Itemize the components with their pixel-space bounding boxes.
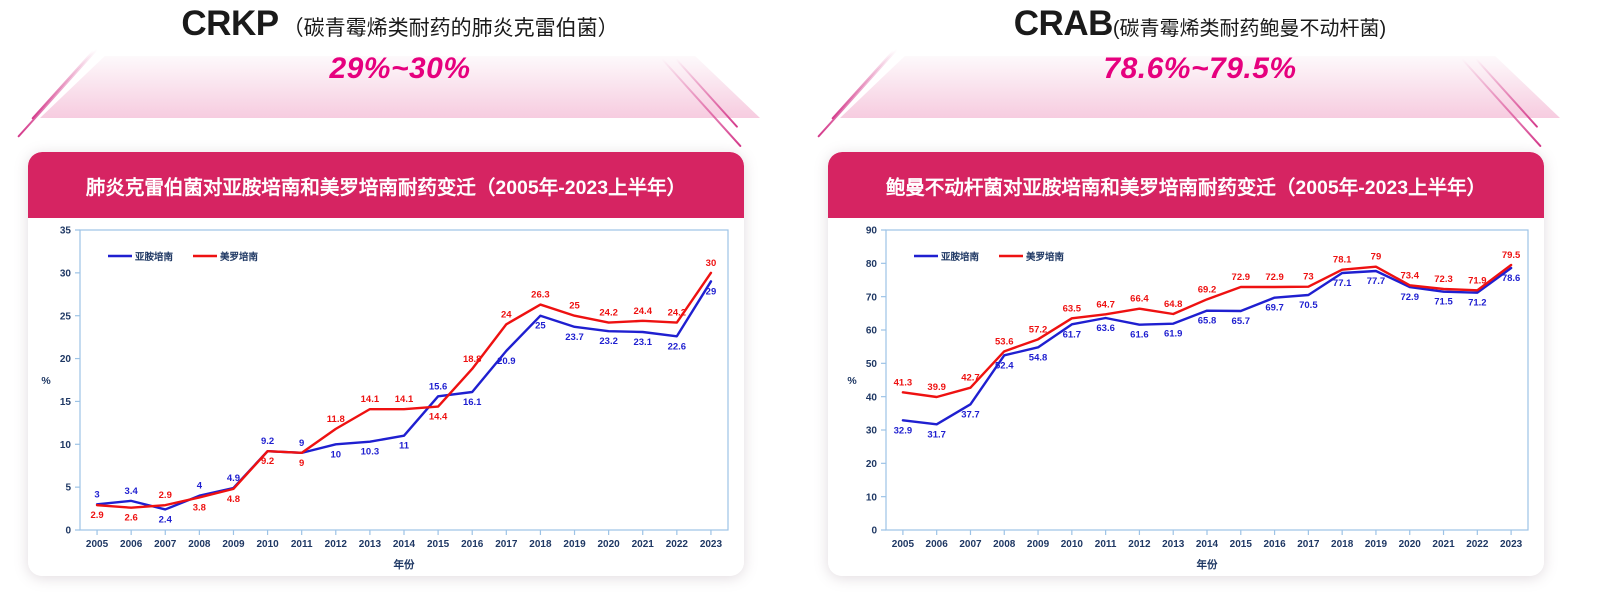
chart-card-crkp: 肺炎克雷伯菌对亚胺培南和美罗培南耐药变迁（2005年-2023上半年） 0510… xyxy=(28,152,744,576)
x-axis-title: 年份 xyxy=(1197,558,1219,571)
data-point-label: 24.2 xyxy=(599,308,618,319)
y-axis-tick-label: 5 xyxy=(65,483,71,494)
y-axis-tick-label: 10 xyxy=(60,440,72,451)
data-point-label: 10.3 xyxy=(361,447,380,458)
x-axis-tick-label: 2007 xyxy=(959,539,982,550)
data-point-label: 26.3 xyxy=(531,290,550,301)
y-axis-tick-label: 70 xyxy=(866,292,878,303)
data-point-label: 78.1 xyxy=(1333,255,1352,266)
x-axis-tick-label: 2022 xyxy=(666,539,689,550)
x-axis-tick-label: 2005 xyxy=(892,539,915,550)
x-axis-tick-label: 2014 xyxy=(1196,539,1219,550)
data-point-label: 69.2 xyxy=(1198,284,1217,295)
data-point-label: 31.7 xyxy=(927,429,946,440)
card-header-crkp: 肺炎克雷伯菌对亚胺培南和美罗培南耐药变迁（2005年-2023上半年） xyxy=(28,152,744,218)
data-point-label: 77.7 xyxy=(1367,276,1386,287)
x-axis-tick-label: 2008 xyxy=(188,539,211,550)
banner-abbreviation: CRAB xyxy=(1014,4,1113,43)
data-point-label: 3.8 xyxy=(193,502,206,513)
x-axis-tick-label: 2007 xyxy=(154,539,177,550)
data-point-label: 66.4 xyxy=(1130,294,1149,305)
x-axis-tick-label: 2018 xyxy=(1331,539,1354,550)
x-axis-tick-label: 2009 xyxy=(222,539,245,550)
x-axis-tick-label: 2019 xyxy=(1365,539,1388,550)
data-point-label: 16.1 xyxy=(463,397,482,408)
y-axis-tick-label: 0 xyxy=(65,526,71,537)
x-axis-tick-label: 2009 xyxy=(1027,539,1050,550)
x-axis-tick-label: 2015 xyxy=(427,539,450,550)
x-axis-tick-label: 2010 xyxy=(1061,539,1084,550)
data-point-label: 22.6 xyxy=(668,341,687,352)
data-point-label: 42.7 xyxy=(961,373,980,384)
banner-range-value: 29%~30% xyxy=(0,52,800,86)
data-point-label: 4.8 xyxy=(227,494,240,505)
data-point-label: 71.2 xyxy=(1468,298,1487,309)
data-point-label: 4 xyxy=(197,481,203,492)
data-point-label: 57.2 xyxy=(1029,324,1048,335)
data-point-label: 71.5 xyxy=(1434,297,1453,308)
y-axis-tick-label: 60 xyxy=(866,326,878,337)
y-axis-tick-label: 25 xyxy=(60,311,72,322)
data-point-label: 30 xyxy=(706,258,717,269)
data-point-label: 18.8 xyxy=(463,354,482,365)
y-axis-title: % xyxy=(847,375,857,387)
x-axis-tick-label: 2021 xyxy=(632,539,655,550)
data-point-label: 32.9 xyxy=(894,425,913,436)
data-point-label: 2.6 xyxy=(125,513,138,524)
data-point-label: 64.8 xyxy=(1164,299,1183,310)
banner-full-name: (碳青霉烯类耐药鲍曼不动杆菌) xyxy=(1113,18,1386,40)
data-point-label: 77.1 xyxy=(1333,278,1352,289)
data-point-label: 41.3 xyxy=(894,377,913,388)
data-point-label: 23.7 xyxy=(565,332,584,343)
x-axis-tick-label: 2016 xyxy=(1263,539,1286,550)
data-point-label: 9 xyxy=(299,458,304,469)
data-point-label: 9.2 xyxy=(261,436,274,447)
banner-range-value: 78.6%~79.5% xyxy=(800,52,1600,86)
data-point-label: 65.8 xyxy=(1198,316,1217,327)
x-axis-tick-label: 2016 xyxy=(461,539,484,550)
data-point-label: 10 xyxy=(331,449,342,460)
x-axis-tick-label: 2011 xyxy=(1095,539,1117,550)
data-point-label: 73.4 xyxy=(1400,270,1419,281)
x-axis-tick-label: 2015 xyxy=(1230,539,1253,550)
y-axis-tick-label: 35 xyxy=(60,226,72,237)
data-point-label: 53.6 xyxy=(995,336,1014,347)
card-body-crkp: 05101520253035%2005200620072008200920102… xyxy=(28,218,744,576)
data-point-label: 25 xyxy=(569,301,580,312)
data-point-label: 2.9 xyxy=(90,510,103,521)
data-point-label: 20.9 xyxy=(497,356,516,367)
data-point-label: 39.9 xyxy=(927,382,946,393)
y-axis-title: % xyxy=(41,375,51,387)
data-point-label: 63.6 xyxy=(1096,323,1115,334)
x-axis-tick-label: 2012 xyxy=(1128,539,1151,550)
panel-crab: CRAB(碳青霉烯类耐药鲍曼不动杆菌) 78.6%~79.5% 鲍曼不动杆菌对亚… xyxy=(800,0,1600,604)
data-point-label: 2.9 xyxy=(159,490,172,501)
y-axis-tick-label: 15 xyxy=(60,397,72,408)
y-axis-tick-label: 30 xyxy=(866,426,878,437)
banner-crab: CRAB(碳青霉烯类耐药鲍曼不动杆菌) 78.6%~79.5% xyxy=(800,0,1600,140)
data-point-label: 78.6 xyxy=(1502,273,1521,284)
x-axis-tick-label: 2010 xyxy=(256,539,279,550)
x-axis-tick-label: 2013 xyxy=(1162,539,1185,550)
data-point-label: 14.4 xyxy=(429,412,448,423)
x-axis-tick-label: 2013 xyxy=(359,539,382,550)
data-point-label: 23.2 xyxy=(599,336,618,347)
banner-abbreviation: CRKP xyxy=(181,4,278,43)
slide-root: CRKP（碳青霉烯类耐药的肺炎克雷伯菌） 29%~30% 肺炎克雷伯菌对亚胺培南… xyxy=(0,0,1600,604)
data-point-label: 72.9 xyxy=(1265,272,1284,283)
data-point-label: 9 xyxy=(299,438,304,449)
y-axis-tick-label: 0 xyxy=(871,526,877,537)
card-header-crab: 鲍曼不动杆菌对亚胺培南和美罗培南耐药变迁（2005年-2023上半年） xyxy=(828,152,1544,218)
y-axis-tick-label: 90 xyxy=(866,226,878,237)
data-point-label: 72.9 xyxy=(1232,272,1251,283)
data-point-label: 79.5 xyxy=(1502,250,1521,261)
data-point-label: 2.4 xyxy=(159,514,173,525)
data-point-label: 3 xyxy=(94,489,99,500)
data-point-label: 54.8 xyxy=(1029,352,1048,363)
data-point-label: 37.7 xyxy=(961,409,980,420)
y-axis-tick-label: 40 xyxy=(866,392,878,403)
card-body-crab: 0102030405060708090%20052006200720082009… xyxy=(828,218,1544,576)
legend-label: 美罗培南 xyxy=(1025,251,1065,263)
data-point-label: 9.2 xyxy=(261,456,274,467)
data-point-label: 79 xyxy=(1371,252,1382,263)
data-point-label: 64.7 xyxy=(1096,299,1115,310)
x-axis-tick-label: 2005 xyxy=(86,539,109,550)
data-point-label: 73 xyxy=(1303,272,1314,283)
card-title: 肺炎克雷伯菌对亚胺培南和美罗培南耐药变迁（2005年-2023上半年） xyxy=(86,171,686,200)
data-point-label: 24.2 xyxy=(668,308,687,319)
x-axis-tick-label: 2023 xyxy=(1500,539,1523,550)
x-axis-tick-label: 2012 xyxy=(325,539,348,550)
data-point-label: 11.8 xyxy=(327,414,345,425)
banner-crkp: CRKP（碳青霉烯类耐药的肺炎克雷伯菌） 29%~30% xyxy=(0,0,800,140)
y-axis-tick-label: 50 xyxy=(866,359,878,370)
y-axis-tick-label: 80 xyxy=(866,259,878,270)
x-axis-tick-label: 2022 xyxy=(1466,539,1489,550)
data-point-label: 25 xyxy=(535,321,546,332)
data-point-label: 3.4 xyxy=(125,486,139,497)
x-axis-tick-label: 2014 xyxy=(393,539,416,550)
y-axis-tick-label: 20 xyxy=(60,354,72,365)
data-point-label: 71.9 xyxy=(1468,275,1487,286)
x-axis-tick-label: 2020 xyxy=(598,539,621,550)
chart-card-crab: 鲍曼不动杆菌对亚胺培南和美罗培南耐药变迁（2005年-2023上半年） 0102… xyxy=(828,152,1544,576)
legend-label: 亚胺培南 xyxy=(941,251,980,263)
x-axis-tick-label: 2023 xyxy=(700,539,723,550)
x-axis-title: 年份 xyxy=(394,558,415,571)
data-point-label: 70.5 xyxy=(1299,300,1318,311)
x-axis-tick-label: 2011 xyxy=(291,539,313,550)
panel-crkp: CRKP（碳青霉烯类耐药的肺炎克雷伯菌） 29%~30% 肺炎克雷伯菌对亚胺培南… xyxy=(0,0,800,604)
data-point-label: 61.9 xyxy=(1164,329,1183,340)
data-point-label: 24 xyxy=(501,309,512,320)
line-chart-crab: 0102030405060708090%20052006200720082009… xyxy=(828,218,1544,576)
legend-label: 亚胺培南 xyxy=(135,251,174,263)
data-point-label: 69.7 xyxy=(1265,303,1284,314)
x-axis-tick-label: 2006 xyxy=(120,539,143,550)
x-axis-tick-label: 2017 xyxy=(495,539,518,550)
x-axis-tick-label: 2020 xyxy=(1399,539,1422,550)
legend-label: 美罗培南 xyxy=(219,251,259,263)
banner-full-name: （碳青霉烯类耐药的肺炎克雷伯菌） xyxy=(283,17,619,40)
data-point-label: 24.4 xyxy=(633,306,652,317)
y-axis-tick-label: 10 xyxy=(866,492,878,503)
x-axis-tick-label: 2008 xyxy=(993,539,1016,550)
line-chart-crkp: 05101520253035%2005200620072008200920102… xyxy=(28,218,744,576)
data-point-label: 14.1 xyxy=(395,394,414,405)
data-point-label: 61.7 xyxy=(1063,329,1082,340)
x-axis-tick-label: 2017 xyxy=(1297,539,1320,550)
card-title: 鲍曼不动杆菌对亚胺培南和美罗培南耐药变迁（2005年-2023上半年） xyxy=(886,171,1486,200)
y-axis-tick-label: 20 xyxy=(866,459,878,470)
data-point-label: 4.9 xyxy=(227,473,240,484)
data-point-label: 65.7 xyxy=(1232,316,1251,327)
data-point-label: 61.6 xyxy=(1130,330,1149,341)
x-axis-tick-label: 2019 xyxy=(563,539,586,550)
banner-title: CRKP（碳青霉烯类耐药的肺炎克雷伯菌） xyxy=(0,4,800,44)
data-point-label: 52.4 xyxy=(995,360,1014,371)
data-point-label: 11 xyxy=(399,441,410,452)
data-point-label: 63.5 xyxy=(1063,303,1082,314)
y-axis-tick-label: 30 xyxy=(60,268,72,279)
x-axis-tick-label: 2006 xyxy=(926,539,949,550)
data-point-label: 23.1 xyxy=(633,337,652,348)
x-axis-tick-label: 2021 xyxy=(1432,539,1455,550)
data-point-label: 14.1 xyxy=(361,394,380,405)
x-axis-tick-label: 2018 xyxy=(529,539,552,550)
data-point-label: 72.9 xyxy=(1400,292,1419,303)
data-point-label: 29 xyxy=(706,286,717,297)
data-point-label: 15.6 xyxy=(429,381,448,392)
banner-title: CRAB(碳青霉烯类耐药鲍曼不动杆菌) xyxy=(800,4,1600,44)
data-point-label: 72.3 xyxy=(1434,274,1453,285)
